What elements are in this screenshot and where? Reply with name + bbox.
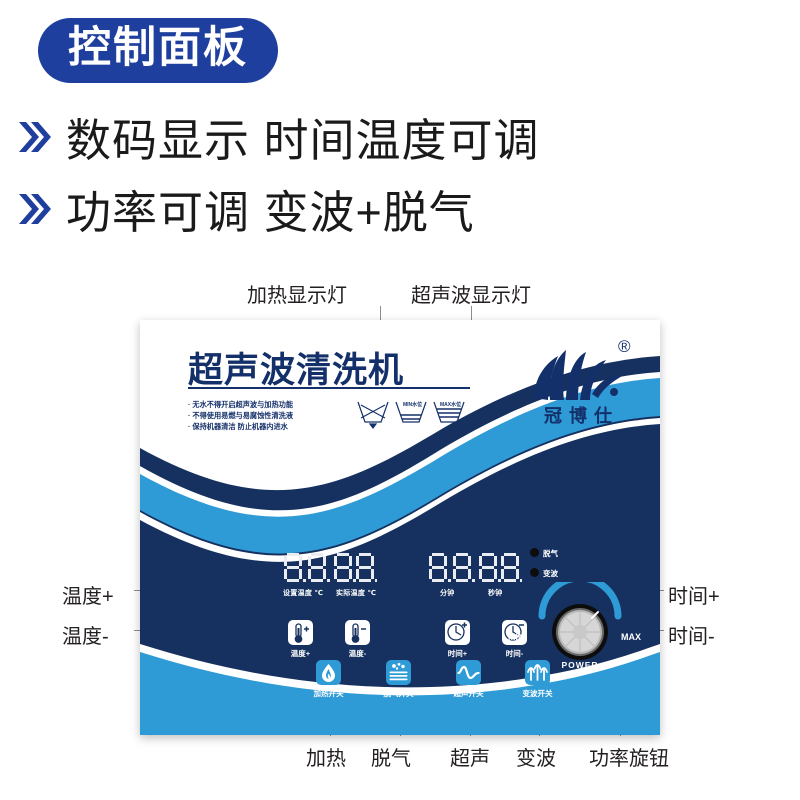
- warning-item: · 无水不得开启超声波与加热功能: [188, 399, 293, 410]
- double-chevron-icon: [18, 117, 52, 157]
- knob-power-label: POWER: [532, 660, 628, 670]
- indicator-label-sweep: 变波: [543, 568, 558, 579]
- tank-level-icons: MIN水位 MAX水位: [355, 396, 470, 430]
- timer-seconds-label: 秒钟: [488, 588, 503, 598]
- indicator-light-sweep: [530, 568, 539, 577]
- thermometer-plus-icon[interactable]: [288, 620, 313, 645]
- callout-heat-indicator: 加热显示灯: [247, 279, 347, 308]
- timer-minutes-label: 分钟: [440, 588, 455, 598]
- timer-display: [428, 552, 522, 584]
- callout-temp-up: 温度+: [62, 580, 114, 609]
- callout-heat: 加热: [306, 742, 346, 771]
- button-label-time-down: 时间-: [494, 648, 535, 659]
- thermometer-minus-icon[interactable]: [345, 620, 370, 645]
- indicator-label-degas: 脱气: [543, 548, 558, 559]
- callout-sweep: 变波: [516, 742, 556, 771]
- heat-drop-icon[interactable]: [316, 660, 341, 685]
- control-panel: 超声波清洗机 · 无水不得开启超声波与加热功能 · 不得使用易燃与易腐蚀性清洗液…: [140, 320, 660, 735]
- button-label-degas: 脱气开关: [372, 688, 425, 699]
- callout-power-knob: 功率旋钮: [589, 742, 669, 771]
- tank-max-label: MAX水位: [440, 401, 461, 408]
- double-chevron-icon: [18, 189, 52, 229]
- feature-bullet-2: 功率可调 变波+脱气: [18, 176, 475, 241]
- button-label-temp-down: 温度-: [337, 648, 378, 659]
- button-label-heat: 加热开关: [302, 688, 355, 699]
- callout-ultrasonic: 超声: [450, 742, 490, 771]
- title-underline: [188, 387, 470, 389]
- button-label-ultrasonic: 超声开关: [442, 688, 495, 699]
- button-label-temp-up: 温度+: [280, 648, 321, 659]
- indicator-light-degas: [530, 548, 539, 557]
- trademark-symbol: ®: [618, 337, 631, 356]
- callout-time-up: 时间+: [668, 580, 720, 609]
- callout-degas: 脱气: [371, 742, 411, 771]
- warning-item: · 不得使用易燃与易腐蚀性清洗液: [188, 410, 293, 421]
- header-section: 控制面板 数码显示 时间温度可调 功率可调 变波+脱气: [0, 0, 800, 250]
- feature-bullet-1-text: 数码显示 时间温度可调: [66, 104, 540, 169]
- clock-plus-icon[interactable]: [445, 620, 470, 645]
- product-title: 超声波清洗机: [188, 342, 404, 393]
- brand-name: 冠博仕: [518, 402, 638, 428]
- page-title-badge: 控制面板: [38, 18, 278, 83]
- button-label-sweep: 变波开关: [511, 688, 564, 699]
- button-label-time-up: 时间+: [437, 648, 478, 659]
- warning-item: · 保持机器清洁 防止机器内进水: [188, 421, 293, 432]
- degas-bubbles-icon[interactable]: [386, 660, 411, 685]
- warning-list: · 无水不得开启超声波与加热功能 · 不得使用易燃与易腐蚀性清洗液 · 保持机器…: [188, 399, 293, 432]
- temperature-display: [283, 552, 377, 584]
- page-title: 控制面板: [68, 24, 248, 72]
- callout-ultrasonic-indicator: 超声波显示灯: [411, 279, 531, 308]
- temperature-set-label: 设置温度 ℃: [283, 588, 323, 598]
- feature-bullet-2-text: 功率可调 变波+脱气: [66, 176, 475, 241]
- knob-max-label: MAX: [621, 632, 641, 642]
- temperature-actual-label: 实际温度 ℃: [336, 588, 376, 598]
- feature-bullet-1: 数码显示 时间温度可调: [18, 104, 540, 169]
- tank-min-label: MIN水位: [403, 401, 422, 408]
- knob-min-label: MIN: [508, 632, 525, 642]
- callout-time-down: 时间-: [668, 620, 715, 649]
- ultrasonic-wave-icon[interactable]: [456, 660, 481, 685]
- callout-temp-down: 温度-: [62, 620, 109, 649]
